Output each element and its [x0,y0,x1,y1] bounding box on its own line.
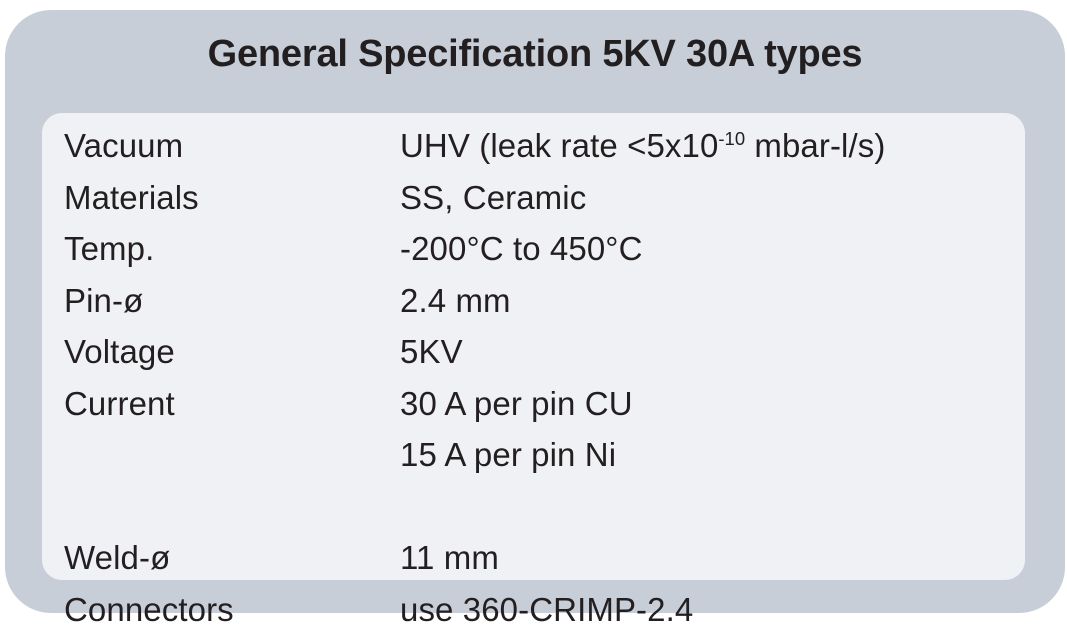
spec-value-superscript: -10 [718,128,745,149]
spec-label: Pin-ø [64,282,400,320]
table-row-continuation: 15 A per pin Ni [64,436,1025,488]
table-row: Vacuum UHV (leak rate <5x10-10 mbar-l/s) [64,127,1025,179]
spec-label: Connectors [64,591,400,629]
spec-value: -200°C to 450°C [400,230,1025,268]
spec-value: use 360-CRIMP-2.4 [400,591,1025,629]
spec-label: Vacuum [64,127,400,165]
spec-value: UHV (leak rate <5x10-10 mbar-l/s) [400,127,1025,165]
table-row: Weld-ø 11 mm [64,539,1025,591]
spec-value: SS, Ceramic [400,179,1025,217]
page-title: General Specification 5KV 30A types [5,33,1065,76]
table-row-spacer [64,488,1025,540]
spec-value: 5KV [400,333,1025,371]
spec-label: Current [64,385,400,423]
specification-card: Vacuum UHV (leak rate <5x10-10 mbar-l/s)… [42,113,1025,580]
specification-panel: General Specification 5KV 30A types Vacu… [5,10,1065,613]
table-row: Connectors use 360-CRIMP-2.4 [64,591,1025,642]
table-row: Pin-ø 2.4 mm [64,282,1025,334]
spec-label: Materials [64,179,400,217]
spec-value-suffix: mbar-l/s) [745,127,885,164]
spec-label: Temp. [64,230,400,268]
table-row: Voltage 5KV [64,333,1025,385]
spec-label: Weld-ø [64,539,400,577]
spec-value-prefix: UHV (leak rate <5x10 [400,127,718,164]
table-row: Materials SS, Ceramic [64,179,1025,231]
specification-table: Vacuum UHV (leak rate <5x10-10 mbar-l/s)… [64,127,1025,580]
spec-value: 11 mm [400,539,1025,577]
spec-value: 2.4 mm [400,282,1025,320]
spec-label: Voltage [64,333,400,371]
table-row: Temp. -200°C to 450°C [64,230,1025,282]
spec-value: 15 A per pin Ni [400,436,1025,474]
table-row: Current 30 A per pin CU [64,385,1025,437]
spec-value: 30 A per pin CU [400,385,1025,423]
